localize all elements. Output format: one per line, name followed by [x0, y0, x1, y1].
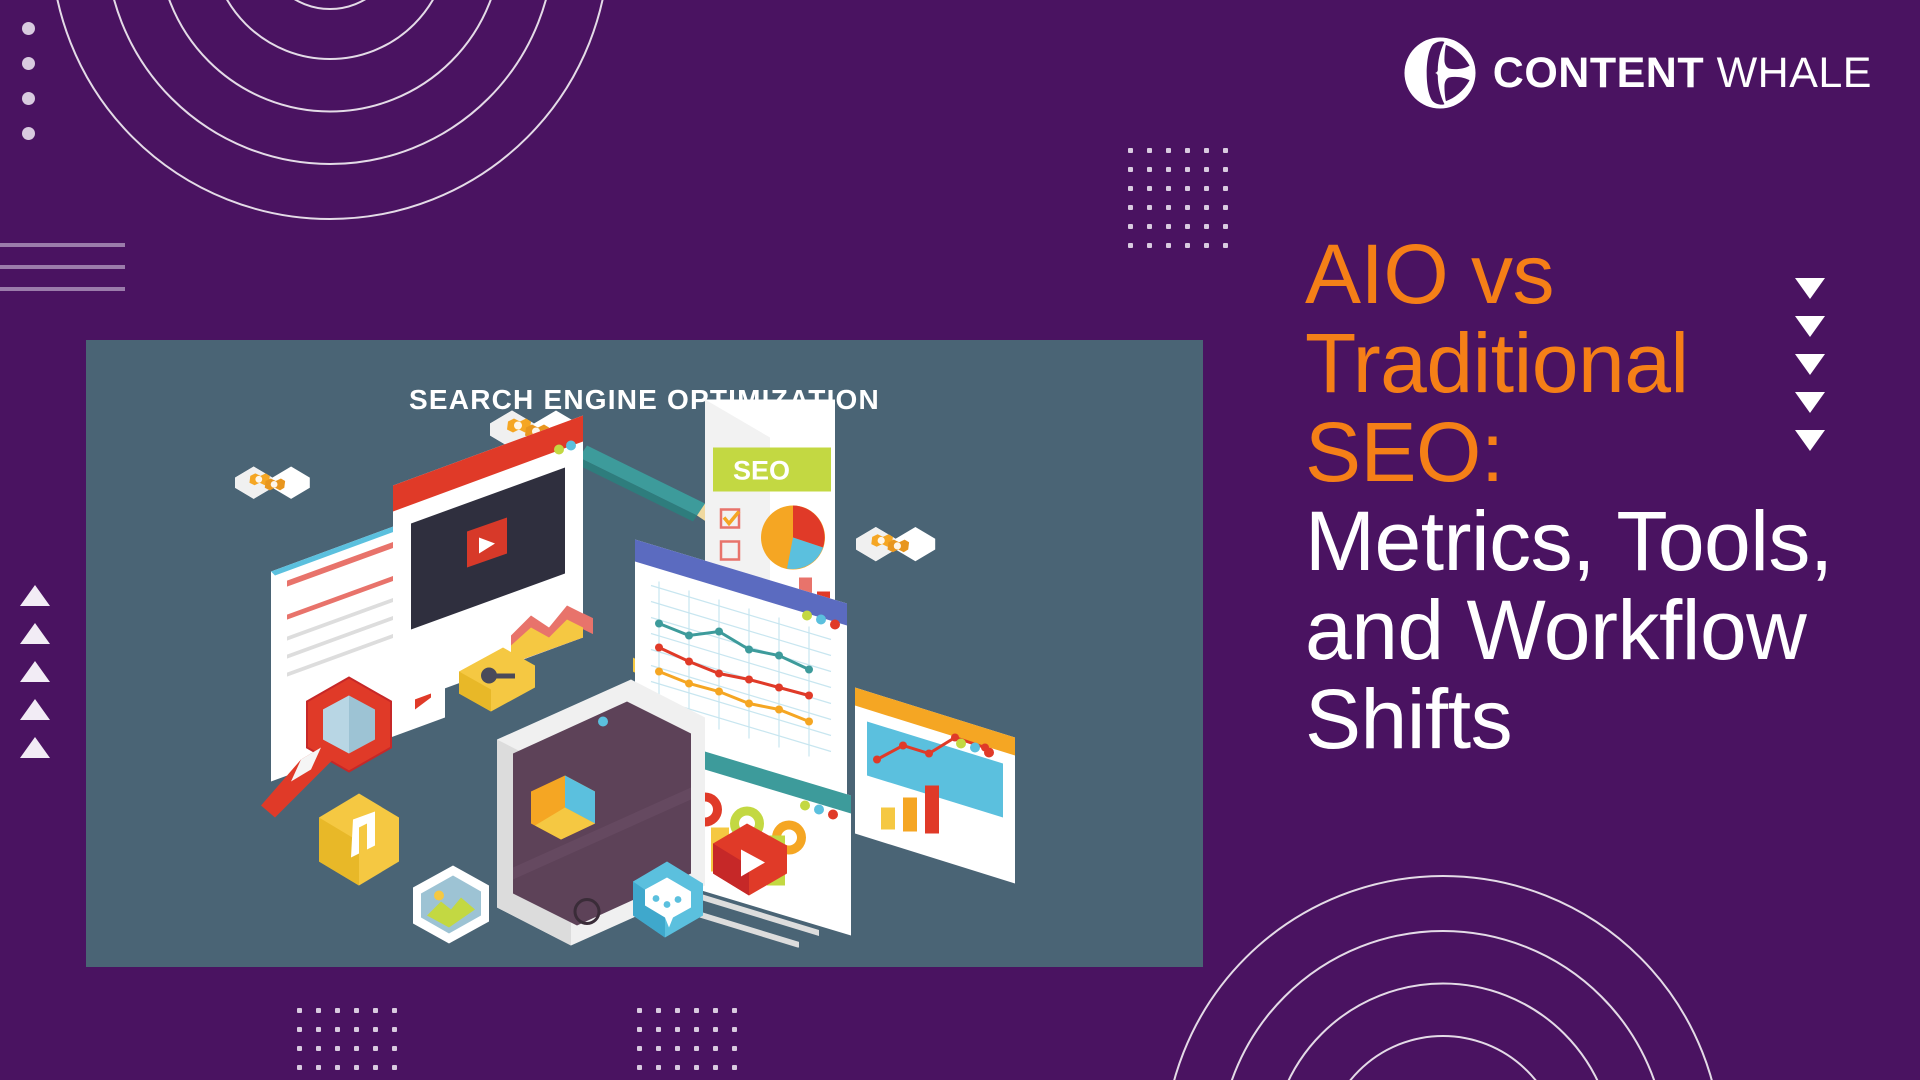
headline-line-2: Traditional	[1305, 319, 1905, 408]
subtitle-line-2: and Workflow	[1305, 586, 1905, 675]
subtitle-line-1: Metrics, Tools,	[1305, 497, 1905, 586]
illustration-panel: SEARCH ENGINE OPTIMIZATION	[86, 340, 1203, 967]
vertical-dots-top-left	[22, 22, 35, 162]
brand-logo: CONTENT WHALE	[1403, 36, 1872, 110]
horizontal-lines-left	[0, 243, 125, 309]
svg-text:SEO: SEO	[733, 456, 790, 486]
headline-line-1: AIO vs	[1305, 230, 1905, 319]
brand-name-bold: CONTENT	[1493, 49, 1704, 97]
headline-block: AIO vs Traditional SEO: Metrics, Tools, …	[1305, 230, 1905, 764]
subtitle-line-3: Shifts	[1305, 675, 1905, 764]
brand-name-light: WHALE	[1717, 49, 1872, 97]
brand-name: CONTENT WHALE	[1493, 49, 1872, 98]
whale-tail-circle-icon	[1403, 36, 1477, 110]
page-title: AIO vs Traditional SEO: Metrics, Tools, …	[1305, 230, 1905, 764]
music-note-icon	[319, 794, 399, 886]
triangles-up-left	[20, 585, 50, 775]
seo-isometric-illustration: SEO	[235, 388, 1055, 953]
dot-grid-bottom-center	[637, 1008, 737, 1080]
dot-grid-bottom-left	[297, 1008, 397, 1080]
dot-grid-top-right	[1128, 148, 1228, 248]
image-photo-icon	[413, 866, 489, 944]
headline-line-3: SEO:	[1305, 408, 1905, 497]
bar-chart-window-right	[855, 688, 1015, 948]
